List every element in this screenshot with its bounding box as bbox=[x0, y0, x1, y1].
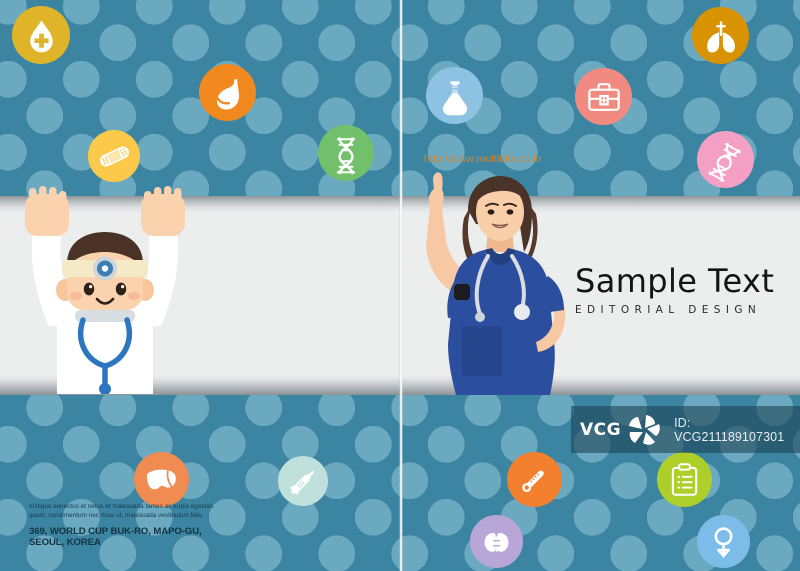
page-gutter-divider bbox=[399, 0, 403, 571]
street-address: 369, WORLD CUP BUK-RO, MAPO-GU, SEOUL, K… bbox=[29, 526, 234, 548]
thermometer-icon bbox=[507, 452, 562, 507]
syringe-icon bbox=[278, 456, 328, 506]
vcg-logo: VCG bbox=[580, 410, 665, 450]
watermark-id: ID: VCG211189107301 bbox=[674, 416, 800, 444]
flask-icon bbox=[426, 67, 483, 124]
liver-icon bbox=[134, 452, 189, 507]
medical-bag-icon bbox=[575, 68, 632, 125]
page-title: Sample Text bbox=[575, 265, 790, 297]
bandage-icon bbox=[88, 130, 140, 182]
headline-block: Sample Text EDITORIAL DESIGN bbox=[575, 265, 790, 316]
vcg-wordmark: VCG bbox=[580, 420, 621, 440]
watermark-overlay: VCG ID: VCG211189107301 bbox=[571, 406, 800, 453]
blood-drop-icon bbox=[12, 6, 70, 64]
lorem-paragraph: tristique senectus et netus et malesuada… bbox=[29, 502, 234, 520]
dna-icon bbox=[318, 125, 374, 181]
poster-canvas: Sample Text EDITORIAL DESIGN http://www.… bbox=[0, 0, 800, 571]
gender-icon bbox=[697, 515, 750, 568]
kidneys-icon bbox=[470, 515, 523, 568]
page-subtitle: EDITORIAL DESIGN bbox=[575, 304, 790, 316]
pinwheel-icon bbox=[625, 410, 665, 450]
dna-pink-icon bbox=[697, 131, 754, 188]
lungs-icon bbox=[692, 7, 749, 64]
nurse-photo bbox=[404, 166, 584, 395]
website-url[interactable]: http://www.multibits.co.kr bbox=[424, 153, 542, 165]
clipboard-icon bbox=[657, 452, 712, 507]
cartoon-doctor-illustration bbox=[5, 186, 205, 394]
address-block: tristique senectus et netus et malesuada… bbox=[29, 502, 234, 548]
stomach-icon bbox=[199, 64, 256, 121]
